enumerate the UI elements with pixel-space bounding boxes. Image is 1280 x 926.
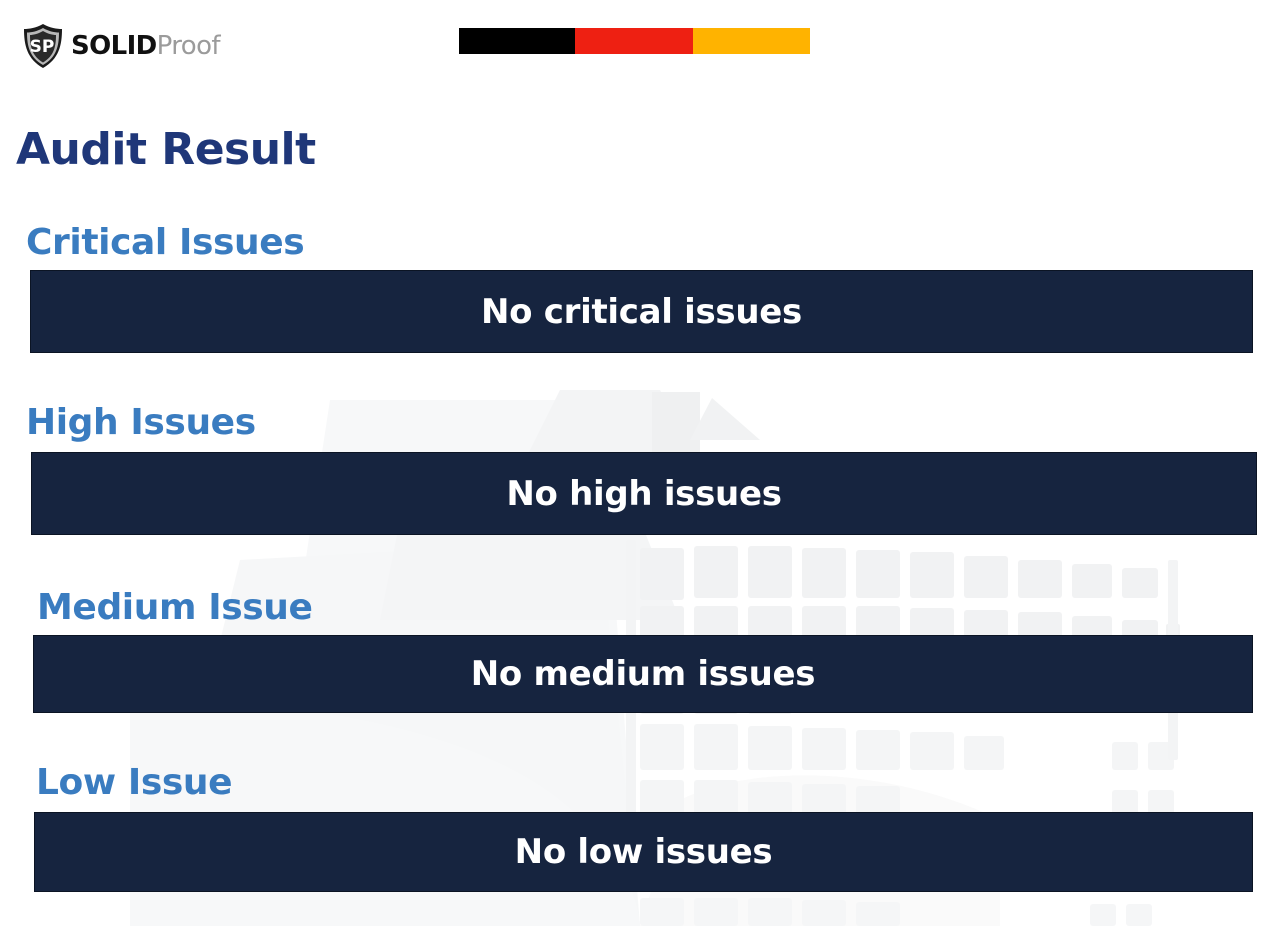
result-bar-low: No low issues [34,812,1253,892]
flag-band-red [575,28,693,54]
result-text-low: No low issues [515,835,773,869]
solidproof-logo: SP SOLID Proof [22,22,220,70]
section-title-high: High Issues [26,405,256,441]
logo-text-solid: SOLID [71,31,157,61]
result-text-high: No high issues [506,477,781,511]
page-header: SP SOLID Proof [0,0,1280,90]
svg-text:SP: SP [30,37,55,57]
result-text-critical: No critical issues [481,295,802,329]
result-bar-critical: No critical issues [30,270,1253,353]
logo-text-proof: Proof [157,31,220,61]
audit-result-page: SP SOLID Proof Audit Result Critical Iss… [0,0,1280,926]
section-title-critical: Critical Issues [26,225,304,261]
section-title-low: Low Issue [36,765,232,801]
flag-band-gold [693,28,810,54]
result-bar-medium: No medium issues [33,635,1253,713]
result-bar-high: No high issues [31,452,1257,535]
result-text-medium: No medium issues [471,657,815,691]
shield-sp-icon: SP [22,23,64,69]
page-title: Audit Result [16,128,316,172]
section-title-medium: Medium Issue [37,590,313,626]
german-flag [459,28,810,54]
flag-band-black [459,28,575,54]
